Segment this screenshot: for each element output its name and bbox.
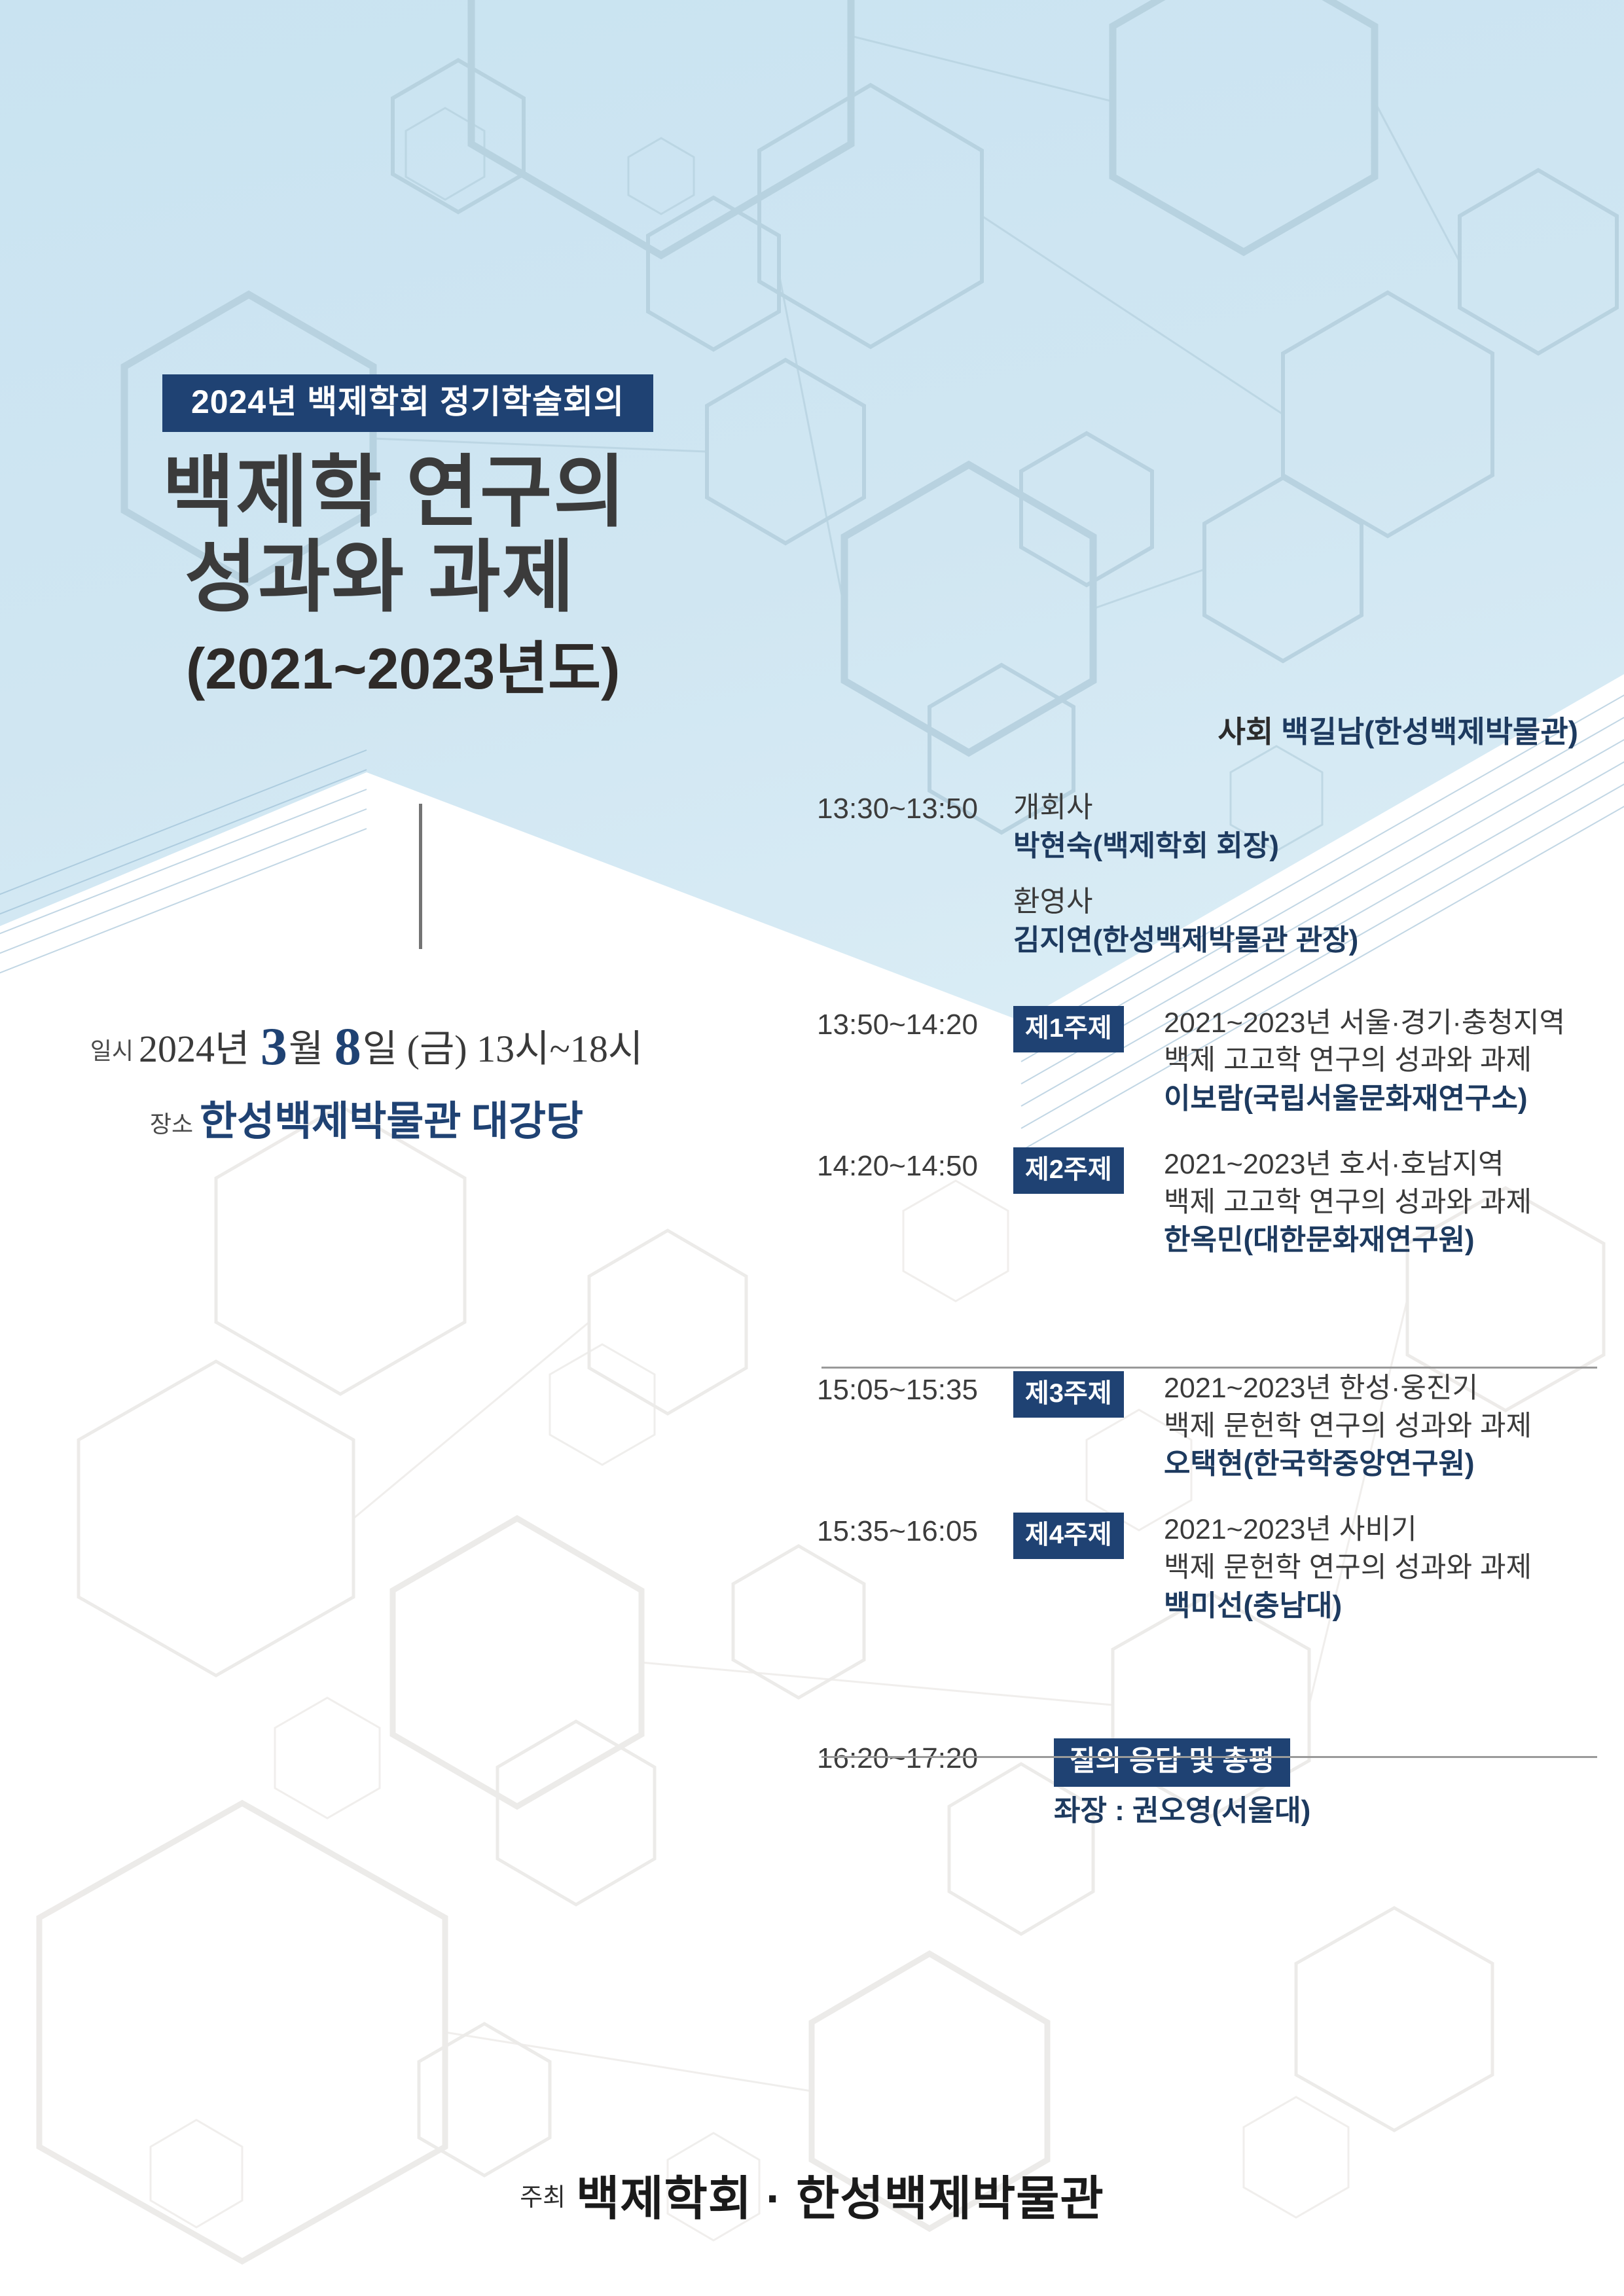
program-row-session-1: 13:50~14:20 제1주제 2021~2023년 서울·경기·충청지역 백…: [817, 1005, 1602, 1119]
session-1-body: 제1주제 2021~2023년 서울·경기·충청지역 백제 고고학 연구의 성과…: [1013, 1005, 1602, 1119]
session-1-title-line-1: 2021~2023년 서울·경기·충청지역: [1164, 1005, 1602, 1043]
welcome-address-title: 환영사: [1013, 883, 1602, 922]
program-schedule: 13:30~13:50 개회사 박현숙(백제학회 회장) 환영사 김지연(한성백…: [817, 789, 1602, 1830]
venue-label: 장소: [150, 1111, 193, 1138]
host-name: 백제학회 · 한성백제박물관: [576, 2173, 1104, 2225]
poster-title-zone: 2024년 백제학회 정기학술회의 백제학 연구의 성과와 과제 (2021~2…: [162, 374, 895, 706]
venue-name: 한성백제박물관 대강당: [200, 1100, 583, 1144]
event-venue-line: 장소한성백제박물관 대강당: [0, 1088, 733, 1147]
session-1-speaker: 이보람(국립서울문화재연구소): [1164, 1080, 1602, 1119]
session-1-title-line-2: 백제 고고학 연구의 성과와 과제: [1164, 1042, 1602, 1080]
event-info-block: 일시2024년 3월 8일 (금) 13시~18시 장소한성백제박물관 대강당: [0, 1016, 733, 1147]
session-1-text-col: 2021~2023년 서울·경기·충청지역 백제 고고학 연구의 성과와 과제 …: [1151, 1005, 1602, 1119]
discussion-body: 질의 응답 및 총평 좌장 : 권오영(서울대): [1013, 1738, 1602, 1831]
title-vertical-divider: [419, 804, 422, 949]
opening-address-title: 개회사: [1013, 789, 1602, 827]
session-3-title-line-2: 백제 문헌학 연구의 성과와 과제: [1164, 1408, 1602, 1446]
program-separator-1: [821, 1367, 1597, 1369]
session-3-title-line-1: 2021~2023년 한성·웅진기: [1164, 1370, 1602, 1408]
program-row-session-2: 14:20~14:50 제2주제 2021~2023년 호서·호남지역 백제 고…: [817, 1146, 1602, 1260]
date-year: 2024년: [139, 1028, 249, 1070]
session-1-time: 13:50~14:20: [817, 1005, 1013, 1041]
session-4-time: 15:35~16:05: [817, 1511, 1013, 1548]
program-row-session-3: 15:05~15:35 제3주제 2021~2023년 한성·웅진기 백제 문헌…: [817, 1370, 1602, 1484]
date-weekday: (금): [407, 1028, 467, 1070]
program-row-opening: 13:30~13:50 개회사 박현숙(백제학회 회장) 환영사 김지연(한성백…: [817, 789, 1602, 960]
poster-footer: 주최백제학회 · 한성백제박물관: [0, 2160, 1624, 2229]
session-4-speaker: 백미선(충남대): [1164, 1587, 1602, 1626]
discussion-badge: 질의 응답 및 총평: [1054, 1738, 1290, 1787]
session-3-badge-col: 제3주제: [1013, 1370, 1151, 1418]
date-month-unit: 월: [289, 1028, 323, 1070]
program-row-session-4: 15:35~16:05 제4주제 2021~2023년 사비기 백제 문헌학 연…: [817, 1511, 1602, 1625]
session-4-badge: 제4주제: [1013, 1513, 1124, 1559]
page-title: 백제학 연구의 성과와 과제: [162, 450, 895, 620]
session-2-title-line-2: 백제 고고학 연구의 성과와 과제: [1164, 1184, 1602, 1222]
session-2-body: 제2주제 2021~2023년 호서·호남지역 백제 고고학 연구의 성과와 과…: [1013, 1146, 1602, 1260]
moderator-line: 사회백길남(한성백제박물관): [1218, 708, 1578, 751]
opening-address-speaker: 박현숙(백제학회 회장): [1013, 827, 1602, 866]
session-2-badge: 제2주제: [1013, 1147, 1124, 1194]
discussion-chair: 좌장 : 권오영(서울대): [1054, 1792, 1602, 1831]
event-kicker-badge: 2024년 백제학회 정기학술회의: [162, 374, 653, 432]
session-2-time: 14:20~14:50: [817, 1146, 1013, 1183]
moderator-name: 백길남(한성백제박물관): [1281, 715, 1578, 749]
session-3-body: 제3주제 2021~2023년 한성·웅진기 백제 문헌학 연구의 성과와 과제…: [1013, 1370, 1602, 1484]
program-row-discussion: 16:20~17:20 질의 응답 및 총평 좌장 : 권오영(서울대): [817, 1738, 1602, 1831]
event-date-line: 일시2024년 3월 8일 (금) 13시~18시: [0, 1016, 733, 1077]
date-label: 일시: [90, 1038, 134, 1064]
opening-body: 개회사 박현숙(백제학회 회장) 환영사 김지연(한성백제박물관 관장): [1013, 789, 1602, 960]
date-time-range: 13시~18시: [477, 1028, 643, 1070]
date-day-number: 8: [334, 1016, 361, 1076]
title-line-1: 백제학 연구의: [162, 448, 627, 536]
session-1-badge: 제1주제: [1013, 1006, 1124, 1052]
opening-time: 13:30~13:50: [817, 789, 1013, 825]
session-1-badge-col: 제1주제: [1013, 1005, 1151, 1052]
session-4-title-line-1: 2021~2023년 사비기: [1164, 1511, 1602, 1549]
session-2-speaker: 한옥민(대한문화재연구원): [1164, 1221, 1602, 1260]
date-day-unit: 일: [363, 1028, 397, 1070]
page-subtitle: (2021~2023년도): [186, 622, 895, 706]
session-2-title-line-1: 2021~2023년 호서·호남지역: [1164, 1146, 1602, 1184]
session-4-text-col: 2021~2023년 사비기 백제 문헌학 연구의 성과와 과제 백미선(충남대…: [1151, 1511, 1602, 1625]
session-4-badge-col: 제4주제: [1013, 1511, 1151, 1559]
session-4-title-line-2: 백제 문헌학 연구의 성과와 과제: [1164, 1549, 1602, 1587]
session-3-speaker: 오택현(한국학중앙연구원): [1164, 1445, 1602, 1484]
host-label: 주최: [520, 2184, 566, 2212]
session-4-body: 제4주제 2021~2023년 사비기 백제 문헌학 연구의 성과와 과제 백미…: [1013, 1511, 1602, 1625]
session-3-badge: 제3주제: [1013, 1371, 1124, 1418]
session-2-badge-col: 제2주제: [1013, 1146, 1151, 1194]
program-separator-2: [821, 1756, 1597, 1758]
session-3-time: 15:05~15:35: [817, 1370, 1013, 1407]
date-month-number: 3: [261, 1016, 287, 1076]
opening-spacer: [1013, 866, 1602, 883]
session-3-text-col: 2021~2023년 한성·웅진기 백제 문헌학 연구의 성과와 과제 오택현(…: [1151, 1370, 1602, 1484]
conference-poster: 2024년 백제학회 정기학술회의 백제학 연구의 성과와 과제 (2021~2…: [0, 0, 1624, 2296]
welcome-address-speaker: 김지연(한성백제박물관 관장): [1013, 922, 1602, 960]
session-2-text-col: 2021~2023년 호서·호남지역 백제 고고학 연구의 성과와 과제 한옥민…: [1151, 1146, 1602, 1260]
title-line-2: 성과와 과제: [185, 535, 895, 620]
moderator-label: 사회: [1218, 715, 1274, 749]
